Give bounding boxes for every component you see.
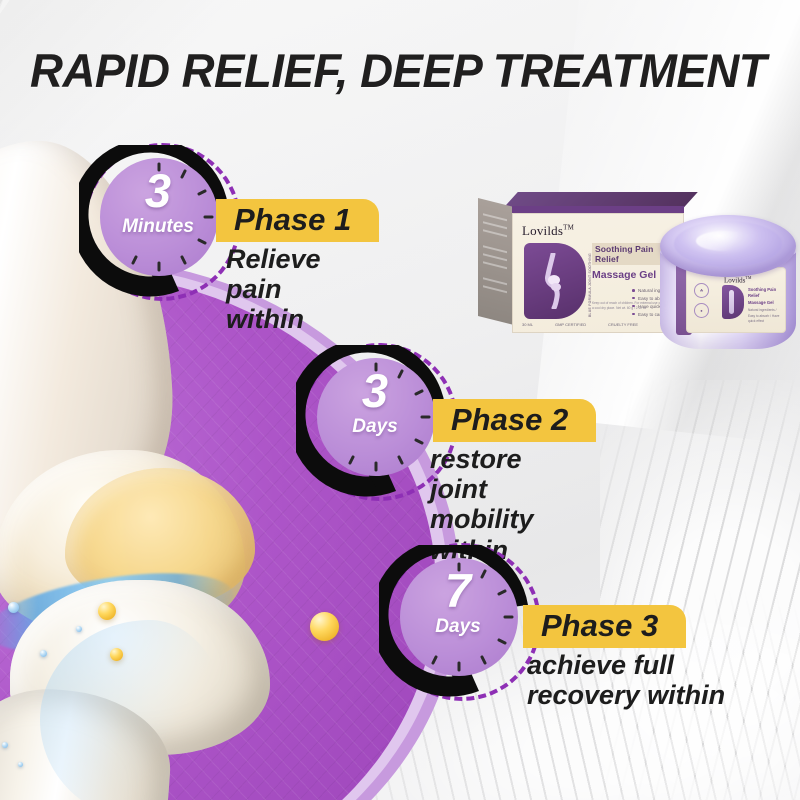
jar-name-line1: Soothing Pain Relief bbox=[748, 287, 782, 300]
jar-name-line2: Massage Gel bbox=[748, 300, 782, 306]
product-promo-poster: RAPID RELIEF, DEEP TREATMENT bbox=[0, 0, 800, 800]
clock-arrow-icon: 7 Days bbox=[383, 543, 533, 693]
cert-mark: GMP CERTIFIED bbox=[555, 322, 586, 327]
cert-mark: CRUELTY FREE bbox=[608, 322, 638, 327]
knee-joint-icon bbox=[540, 253, 570, 309]
gel-bubble bbox=[8, 602, 19, 613]
brand-text: Lovilds bbox=[522, 223, 563, 238]
gel-bubble bbox=[76, 626, 82, 632]
phase-banner: Phase 2 bbox=[433, 399, 596, 442]
phase-number: 3 bbox=[83, 167, 233, 214]
jar-logo-mark bbox=[722, 285, 744, 319]
phase-number: 3 bbox=[300, 367, 450, 414]
product-jar: LovildsTM Soothing Pain Relief Massage G… bbox=[656, 215, 800, 353]
certification-marks: 30 ML GMP CERTIFIED CRUELTY FREE VEGAN bbox=[522, 322, 674, 327]
jar-product-name: Soothing Pain Relief Massage Gel Natural… bbox=[748, 287, 782, 325]
clock-arrow-icon: 3 Minutes bbox=[83, 143, 233, 293]
cert-mark: 30 ML bbox=[522, 322, 533, 327]
phase-number: 7 bbox=[383, 567, 533, 614]
leaf-badge-icon: ☘ bbox=[694, 283, 709, 298]
gel-surface bbox=[674, 221, 782, 267]
product-shot: LovildsTM BLUE FORMULA JOINT SOOTHING So… bbox=[478, 193, 800, 353]
phase-banner-label: Phase 2 bbox=[451, 404, 568, 436]
jar-label: LovildsTM Soothing Pain Relief Massage G… bbox=[686, 267, 786, 333]
phase-banner-label: Phase 3 bbox=[541, 610, 658, 642]
phase-subtitle: achieve full recovery within bbox=[527, 650, 762, 710]
phase-unit: Days bbox=[383, 617, 533, 636]
jar-subtext: Natural ingredients / Easy to absorb / H… bbox=[748, 308, 782, 325]
gold-sphere bbox=[310, 612, 339, 641]
phase-banner: Phase 1 bbox=[216, 199, 379, 242]
jar-brand-text: Lovilds bbox=[724, 276, 745, 284]
drop-badge-icon: ● bbox=[694, 303, 709, 318]
phase-unit: Days bbox=[300, 417, 450, 436]
gel-bubble bbox=[40, 650, 47, 657]
page-title: RAPID RELIEF, DEEP TREATMENT bbox=[30, 47, 767, 94]
background-fold bbox=[600, 380, 800, 800]
gold-sphere bbox=[98, 602, 116, 620]
knee-graphic-panel: BLUE FORMULA JOINT SOOTHING bbox=[524, 243, 586, 319]
phase-banner: Phase 3 bbox=[523, 605, 686, 648]
phase-subtitle: Relieve pain within bbox=[226, 244, 321, 335]
brand-name: LovildsTM bbox=[522, 223, 574, 239]
clock-arrow-icon: 3 Days bbox=[300, 343, 450, 493]
gel-bubble bbox=[2, 742, 8, 748]
gel-bubble bbox=[18, 762, 23, 767]
gold-sphere bbox=[110, 648, 123, 661]
phase-banner-label: Phase 1 bbox=[234, 204, 351, 236]
trademark-mark: TM bbox=[563, 224, 574, 232]
phase-unit: Minutes bbox=[83, 217, 233, 236]
box-side-panel bbox=[478, 198, 514, 325]
